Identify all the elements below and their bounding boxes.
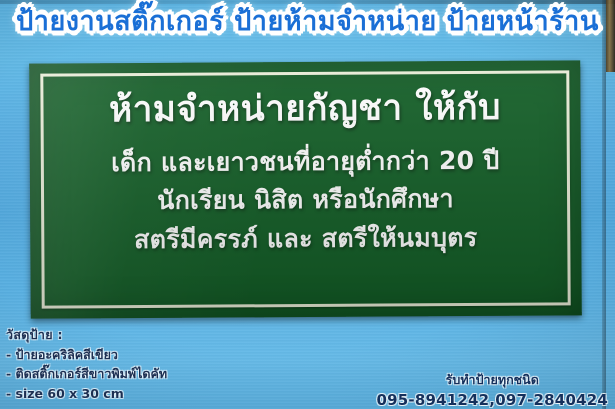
contact-block: รับทำป้ายทุกชนิด 095-8941242,097-2840424 — [377, 372, 609, 409]
sign-line-2: นักเรียน นิสิต หรือนักศึกษา — [157, 183, 454, 217]
contact-heading: รับทำป้ายทุกชนิด — [377, 372, 609, 388]
sign-headline: ห้ามจำหน่ายกัญชา ให้กับ — [109, 87, 501, 132]
green-acrylic-sign: ห้ามจำหน่ายกัญชา ให้กับ เด็ก และเยาวชนที… — [29, 60, 582, 318]
spec-title: วัสดุป้าย : — [6, 329, 167, 342]
spec-item-material: - ป้ายอะคริลิคสีเขียว — [6, 349, 167, 362]
contact-phone: 095-8941242,097-2840424 — [377, 391, 609, 409]
screenshot-canvas: ป้ายงานสติ๊กเกอร์ ป้ายห้ามจำหน่าย ป้ายหน… — [0, 0, 615, 409]
sign-content: ห้ามจำหน่ายกัญชา ให้กับ เด็ก และเยาวชนที… — [47, 78, 563, 304]
spec-item-sticker: - ติดสติ๊กเกอร์สีขาวพิมพ์ไดคัท — [6, 368, 167, 381]
spec-list: วัสดุป้าย : - ป้ายอะคริลิคสีเขียว - ติดส… — [6, 329, 167, 407]
photo-top-edge — [0, 0, 615, 4]
header-title: ป้ายงานสติ๊กเกอร์ ป้ายห้ามจำหน่าย ป้ายหน… — [16, 8, 599, 36]
sign-line-3: สตรีมีครรภ์ และ สตรีให้นมบุตร — [134, 222, 478, 257]
header-banner: ป้ายงานสติ๊กเกอร์ ป้ายห้ามจำหน่าย ป้ายหน… — [0, 8, 615, 36]
spec-item-size: - size 60 x 30 cm — [6, 388, 167, 401]
sign-line-1: เด็ก และเยาวชนที่อายุต่ำกว่า 20 ปี — [111, 145, 500, 180]
